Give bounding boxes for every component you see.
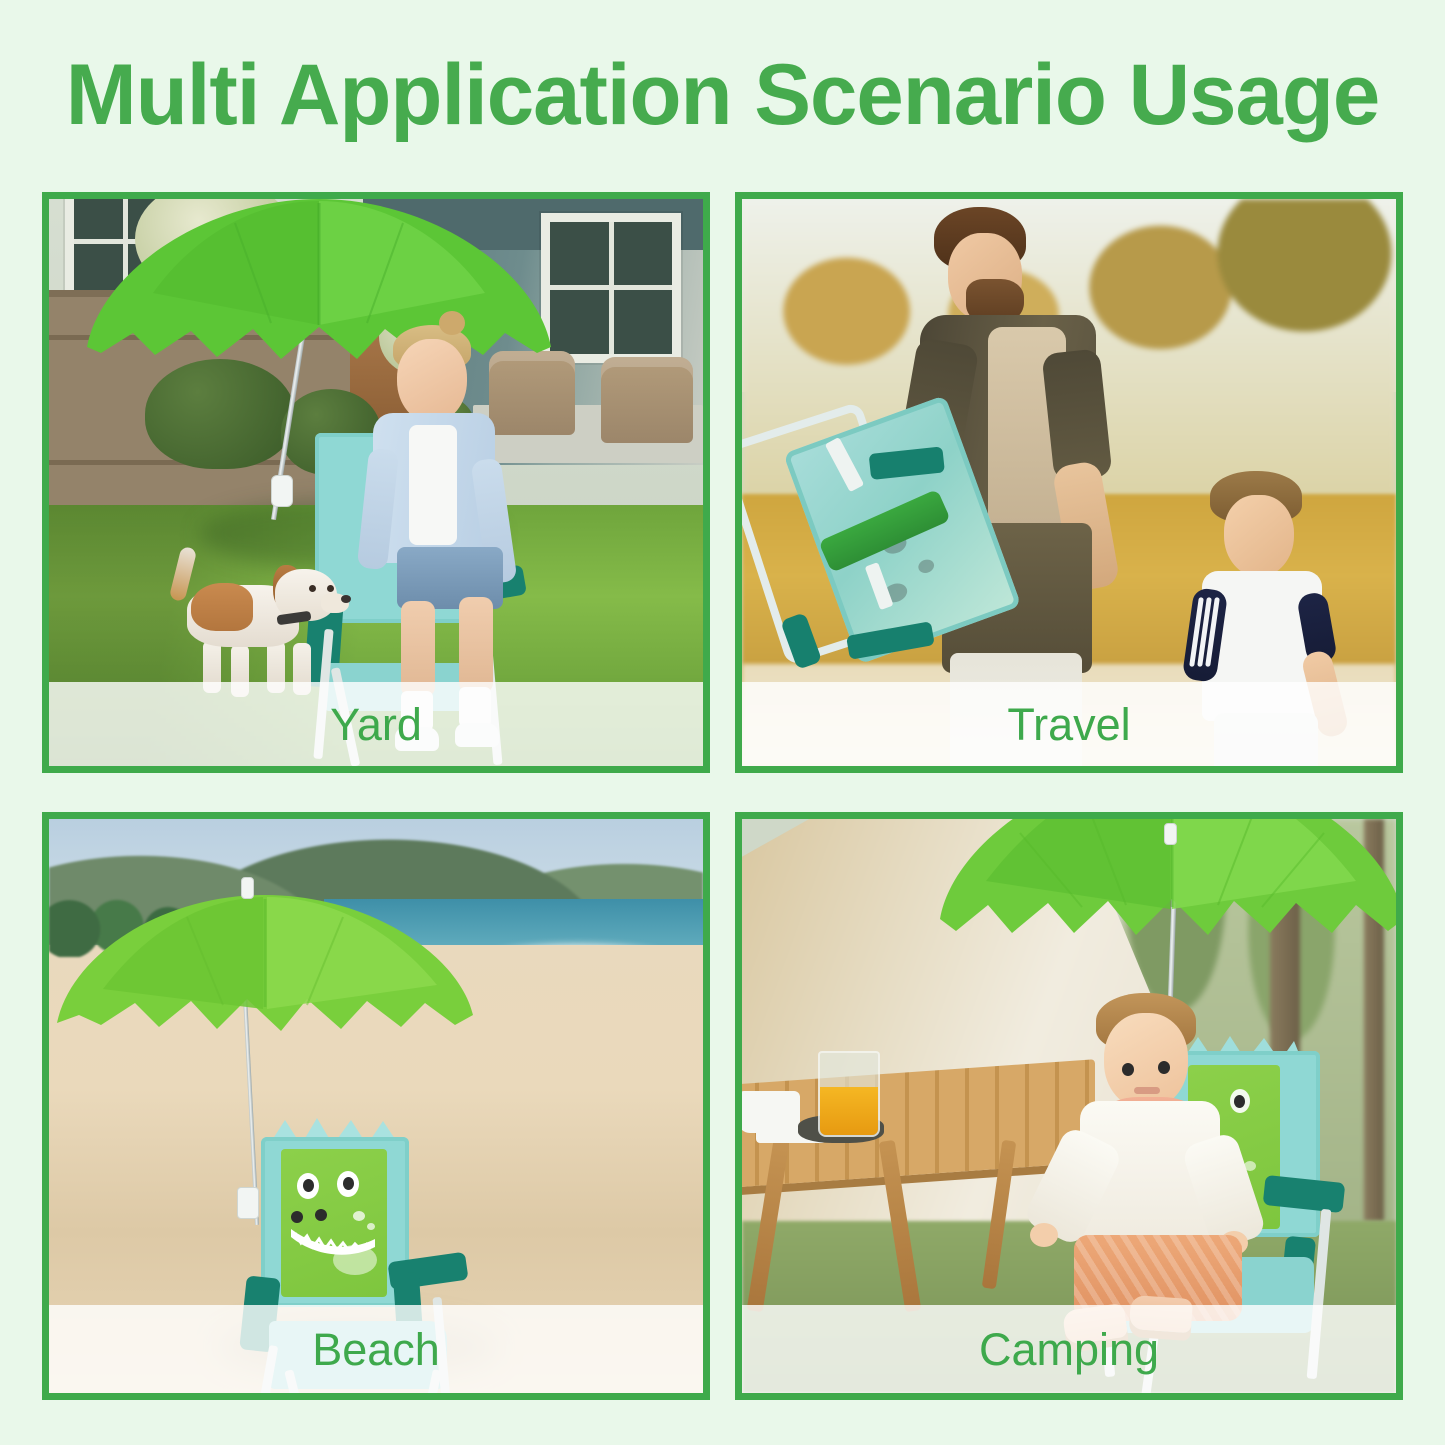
croc-pupil-left [303,1179,314,1192]
croc-cheek-highlight [333,1245,377,1275]
scenario-panel-beach[interactable]: Beach [42,812,710,1400]
umbrella-clamp [271,475,293,507]
toddler-eye-left [1122,1063,1134,1076]
scenario-panel-travel[interactable]: Travel [735,192,1403,773]
toddler-eye-right [1158,1061,1170,1074]
toddler-head [1104,1013,1188,1109]
dog-eye-left [309,585,316,592]
crocodile-face-print [281,1149,387,1297]
croc-pupil-right [343,1177,354,1190]
yard-scene-image [49,199,703,766]
croc-nostril-right [315,1209,327,1221]
boy-head [1224,495,1294,577]
toddler-hand-left [1030,1223,1058,1247]
yard-caption-band: Yard [49,682,703,766]
croc-nostril-left [291,1211,303,1223]
scenario-panel-camping[interactable]: Camping [735,812,1403,1400]
scenario-panel-grid: Yard [42,192,1403,1400]
boy-head [397,339,467,423]
beach-caption-band: Beach [49,1305,703,1393]
man-sleeve-right [1041,348,1112,481]
umbrella-canopy-icon [55,893,475,1053]
dog-body-patch [191,583,253,631]
travel-caption: Travel [1007,702,1130,747]
house-window-right [541,213,681,363]
boy-leg-right [459,597,493,693]
camping-caption-band: Camping [742,1305,1396,1393]
yard-caption: Yard [330,702,422,747]
page-title: Multi Application Scenario Usage [7,52,1438,138]
beach-caption: Beach [312,1327,440,1372]
juice-glass [818,1051,880,1137]
travel-caption-band: Travel [742,682,1396,766]
scenario-panel-yard[interactable]: Yard [42,192,710,773]
croc-bubble-2 [367,1223,375,1230]
croc-bubble-1 [353,1211,365,1221]
umbrella-finial [1164,823,1177,845]
camping-caption: Camping [979,1327,1159,1372]
wicker-chair-2 [601,357,693,443]
boy-hair-bun [439,311,465,335]
dog-tail [169,546,198,602]
orange-juice [820,1087,878,1135]
umbrella-finial [241,877,254,899]
dog-nose [341,595,351,603]
dog-eye-right [327,585,334,592]
toddler-mouth [1134,1087,1160,1094]
travel-scene-image [742,199,1396,766]
green-umbrella-beach [55,893,475,1053]
boy-tshirt [409,425,457,545]
